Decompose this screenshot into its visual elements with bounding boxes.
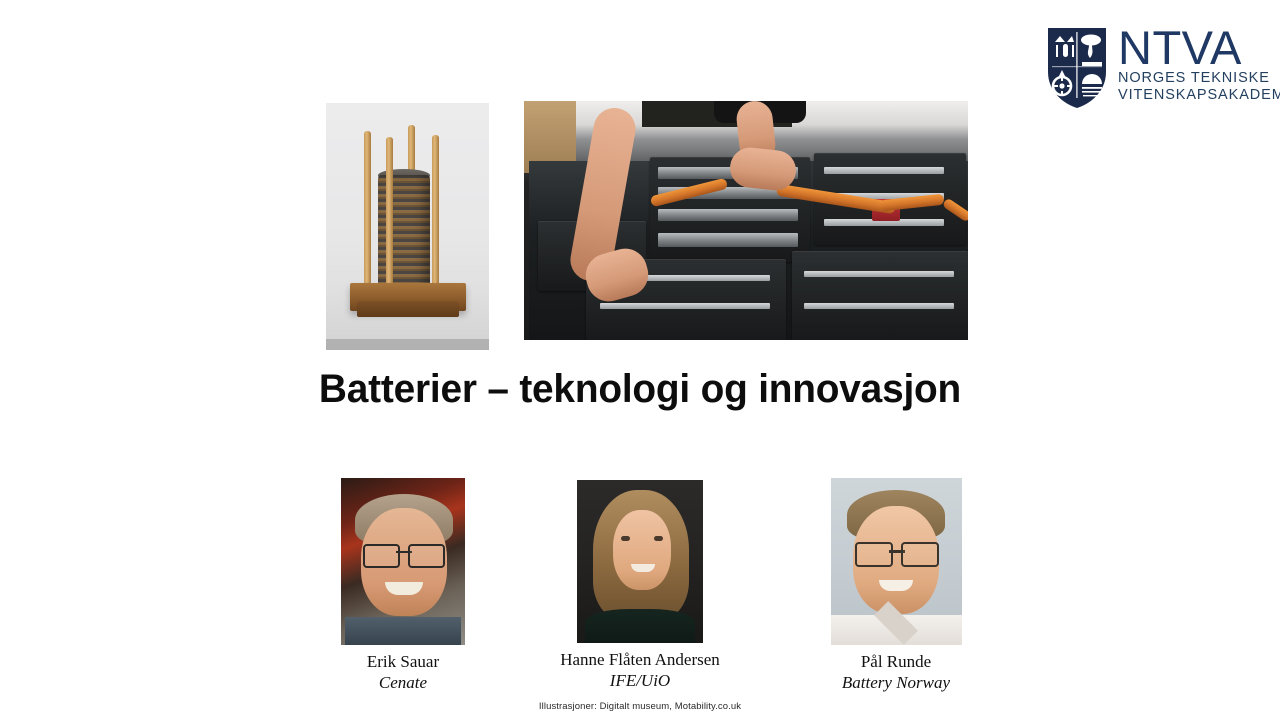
face	[613, 510, 671, 590]
battery-cell-row	[658, 233, 798, 247]
slide-title: Batterier – teknologi og innovasjon	[19, 366, 1261, 412]
speaker-row: Erik Sauar Cenate Hanne Flåten Andersen …	[0, 478, 1280, 708]
busbar	[804, 271, 954, 277]
speaker-name: Pål Runde	[760, 651, 1032, 672]
glasses-icon	[363, 544, 445, 564]
portrait-pal-runde	[831, 478, 962, 645]
ntva-subtitle-line1: NORGES TEKNISKE	[1118, 70, 1280, 87]
image-voltaic-pile	[326, 103, 489, 350]
speaker-affiliation: IFE/UiO	[512, 670, 768, 691]
image-ev-battery-pack	[524, 101, 968, 340]
speaker-card-hanne-flaten-andersen: Hanne Flåten Andersen IFE/UiO	[512, 480, 768, 691]
ntva-wordmark: NTVA NORGES TEKNISKE VITENSKAPSAKADEMI	[1118, 26, 1280, 104]
ntva-shield-icon	[1046, 26, 1108, 110]
speaker-name: Hanne Flåten Andersen	[512, 649, 768, 670]
wooden-rod	[432, 135, 439, 299]
busbar	[804, 303, 954, 309]
smile	[879, 580, 913, 591]
wooden-base-lower	[357, 301, 459, 317]
glasses-icon	[855, 542, 939, 563]
portrait-erik-sauar	[341, 478, 465, 645]
speaker-name: Erik Sauar	[268, 651, 538, 672]
speaker-affiliation: Battery Norway	[760, 672, 1032, 693]
shirt	[345, 617, 461, 645]
speaker-card-pal-runde: Pål Runde Battery Norway	[760, 478, 1032, 693]
busbar	[824, 167, 944, 174]
battery-cell-row	[658, 209, 798, 221]
image-credit: Illustrasjoner: Digitalt museum, Motabil…	[0, 701, 1280, 712]
speaker-card-erik-sauar: Erik Sauar Cenate	[268, 478, 538, 693]
ntva-logo: NTVA NORGES TEKNISKE VITENSKAPSAKADEMI	[1046, 26, 1280, 116]
busbar	[600, 303, 770, 309]
shirt	[585, 609, 695, 643]
speaker-affiliation: Cenate	[268, 672, 538, 693]
ntva-acronym: NTVA	[1118, 26, 1280, 70]
battery-module	[792, 251, 968, 340]
ntva-subtitle-line2: VITENSKAPSAKADEMI	[1118, 87, 1280, 104]
wooden-rod	[386, 137, 393, 299]
slide-canvas: NTVA NORGES TEKNISKE VITENSKAPSAKADEMI	[0, 0, 1280, 720]
photo-watermark-bar	[326, 339, 489, 350]
portrait-hanne-flaten-andersen	[577, 480, 703, 643]
eyes	[621, 536, 663, 541]
wooden-rod	[364, 131, 371, 299]
